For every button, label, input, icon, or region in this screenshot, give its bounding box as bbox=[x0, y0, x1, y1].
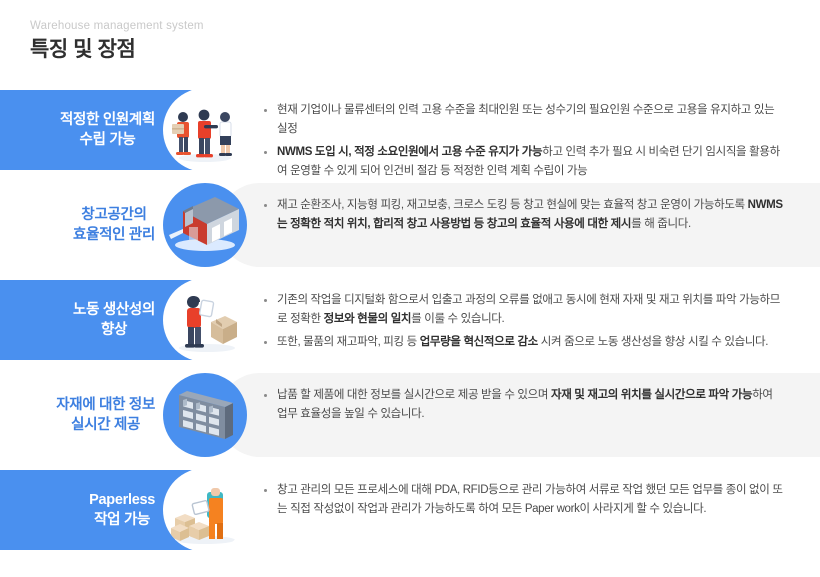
paperless-worker-boxes-icon bbox=[163, 468, 247, 552]
bullet-text: 현재 기업이나 물류센터의 인력 고용 수준을 최대인원 또는 성수기의 필요인… bbox=[277, 104, 774, 135]
feature-row: 납품 할 제품에 대한 정보를 실시간으로 제공 받을 수 있으며 자재 및 재… bbox=[0, 373, 820, 468]
feature-label-text: 자재에 대한 정보 실시간 제공 bbox=[56, 395, 155, 435]
storage-racks-icon bbox=[163, 373, 247, 457]
bullet-item: 또한, 물품의 재고파악, 피킹 등 업무량을 혁신적으로 감소 시켜 줌으로 … bbox=[264, 333, 784, 352]
bullet-text: 창고 관리의 모든 프로세스에 대해 PDA, RFID등으로 관리 가능하여 … bbox=[277, 484, 783, 515]
feature-description-panel: 창고 관리의 모든 프로세스에 대해 PDA, RFID등으로 관리 가능하여 … bbox=[218, 468, 820, 552]
bullet-emphasis: 업무량을 혁신적으로 감소 bbox=[420, 336, 538, 348]
feature-row: 기존의 작업을 디지털화 함으로서 입출고 과정의 오류를 없애고 동시에 현재… bbox=[0, 278, 820, 373]
warehouse-building-icon bbox=[163, 183, 247, 267]
warehouse-building-icon bbox=[163, 183, 247, 267]
worker-tablet-box-icon bbox=[163, 278, 247, 362]
feature-rows: 현재 기업이나 물류센터의 인력 고용 수준을 최대인원 또는 성수기의 필요인… bbox=[0, 88, 820, 563]
feature-description-panel: 기존의 작업을 디지털화 함으로서 입출고 과정의 오류를 없애고 동시에 현재… bbox=[218, 278, 820, 362]
feature-description-panel: 납품 할 제품에 대한 정보를 실시간으로 제공 받을 수 있으며 자재 및 재… bbox=[218, 373, 820, 457]
page-title: 특징 및 장점 bbox=[30, 35, 530, 65]
feature-description-panel: 재고 순환조사, 지능형 피킹, 재고보충, 크로스 도킹 등 창고 현실에 맞… bbox=[218, 183, 820, 267]
feature-description-panel: 현재 기업이나 물류센터의 인력 고용 수준을 최대인원 또는 성수기의 필요인… bbox=[218, 88, 820, 172]
bullet-item: 기존의 작업을 디지털화 함으로서 입출고 과정의 오류를 없애고 동시에 현재… bbox=[264, 291, 784, 329]
bullet-text: 를 이룰 수 있습니다. bbox=[411, 313, 504, 325]
bullet-emphasis: 자재 및 재고의 위치를 실시간으로 파악 가능 bbox=[551, 389, 752, 401]
bullet-list: 현재 기업이나 물류센터의 인력 고용 수준을 최대인원 또는 성수기의 필요인… bbox=[264, 101, 784, 181]
feature-row: 재고 순환조사, 지능형 피킹, 재고보충, 크로스 도킹 등 창고 현실에 맞… bbox=[0, 183, 820, 278]
header-eyebrow: Warehouse management system bbox=[30, 18, 530, 34]
delivery-people-icon bbox=[163, 88, 247, 172]
feature-label-text: 창고공간의 효율적인 관리 bbox=[73, 205, 155, 245]
bullet-item: 창고 관리의 모든 프로세스에 대해 PDA, RFID등으로 관리 가능하여 … bbox=[264, 481, 784, 519]
bullet-text: 를 해 줍니다. bbox=[631, 218, 691, 230]
delivery-people-icon bbox=[163, 88, 247, 172]
feature-row: 창고 관리의 모든 프로세스에 대해 PDA, RFID등으로 관리 가능하여 … bbox=[0, 468, 820, 563]
paperless-worker-boxes-icon bbox=[163, 468, 247, 552]
feature-label-text: 적정한 인원계획 수립 가능 bbox=[60, 110, 155, 150]
bullet-emphasis: 정보와 현물의 일치 bbox=[324, 313, 412, 325]
page-header: Warehouse management system 특징 및 장점 bbox=[30, 18, 530, 65]
bullet-item: NWMS 도입 시, 적정 소요인원에서 고용 수준 유지가 가능하고 인력 추… bbox=[264, 143, 784, 181]
bullet-list: 재고 순환조사, 지능형 피킹, 재고보충, 크로스 도킹 등 창고 현실에 맞… bbox=[264, 196, 784, 234]
bullet-list: 납품 할 제품에 대한 정보를 실시간으로 제공 받을 수 있으며 자재 및 재… bbox=[264, 386, 784, 424]
bullet-emphasis: NWMS 도입 시, 적정 소요인원에서 고용 수준 유지가 가능 bbox=[277, 146, 542, 158]
worker-tablet-box-icon bbox=[163, 278, 247, 362]
feature-label-text: Paperless 작업 가능 bbox=[89, 490, 155, 530]
bullet-item: 납품 할 제품에 대한 정보를 실시간으로 제공 받을 수 있으며 자재 및 재… bbox=[264, 386, 784, 424]
bullet-item: 현재 기업이나 물류센터의 인력 고용 수준을 최대인원 또는 성수기의 필요인… bbox=[264, 101, 784, 139]
bullet-text: 시켜 줌으로 노동 생산성을 향상 시킬 수 있습니다. bbox=[538, 336, 768, 348]
bullet-list: 창고 관리의 모든 프로세스에 대해 PDA, RFID등으로 관리 가능하여 … bbox=[264, 481, 784, 519]
bullet-item: 재고 순환조사, 지능형 피킹, 재고보충, 크로스 도킹 등 창고 현실에 맞… bbox=[264, 196, 784, 234]
storage-racks-icon bbox=[163, 373, 247, 457]
bullet-text: 또한, 물품의 재고파악, 피킹 등 bbox=[277, 336, 420, 348]
feature-label-text: 노동 생산성의 향상 bbox=[73, 300, 155, 340]
feature-row: 현재 기업이나 물류센터의 인력 고용 수준을 최대인원 또는 성수기의 필요인… bbox=[0, 88, 820, 183]
bullet-text: 재고 순환조사, 지능형 피킹, 재고보충, 크로스 도킹 등 창고 현실에 맞… bbox=[277, 199, 748, 211]
bullet-text: 납품 할 제품에 대한 정보를 실시간으로 제공 받을 수 있으며 bbox=[277, 389, 551, 401]
bullet-list: 기존의 작업을 디지털화 함으로서 입출고 과정의 오류를 없애고 동시에 현재… bbox=[264, 291, 784, 352]
